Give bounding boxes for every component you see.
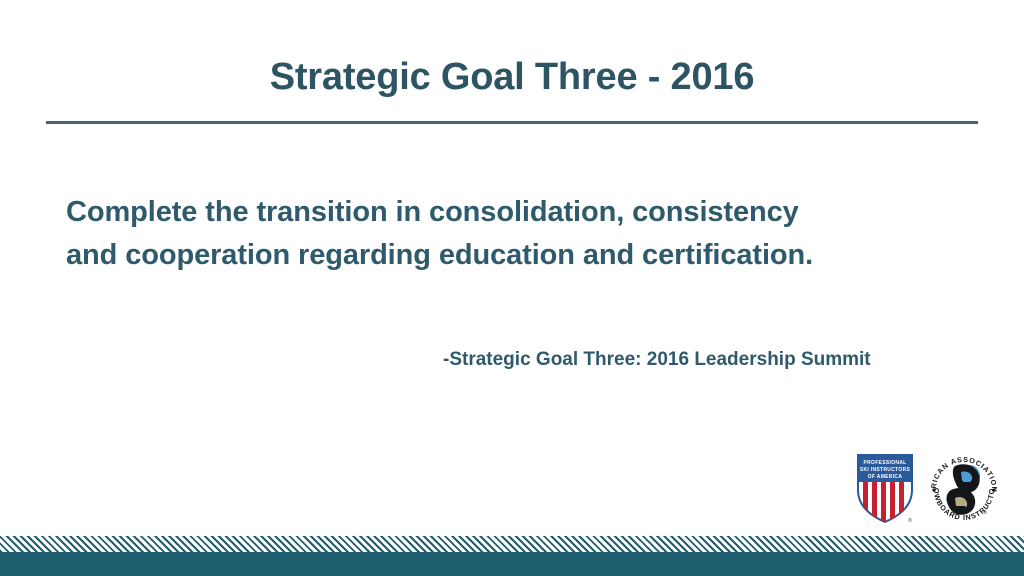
goal-statement-line-2: and cooperation regarding education and …: [66, 234, 966, 277]
psia-registered-mark: ®: [908, 517, 912, 524]
attribution-text: -Strategic Goal Three: 2016 Leadership S…: [443, 349, 943, 371]
page-title: Strategic Goal Three - 2016: [0, 54, 1024, 100]
title-divider-rule: [46, 121, 978, 124]
aasi-circle-icon: AMERICAN ASSOCIATION OF SNOWBOARD INSTRU…: [925, 446, 1003, 530]
slide-canvas: Strategic Goal Three - 2016 Complete the…: [0, 0, 1024, 576]
aasi-registered-mark: ®: [983, 509, 987, 516]
psia-logo-line-1: PROFESSIONAL: [863, 460, 906, 466]
goal-statement-line-1: Complete the transition in consolidation…: [66, 191, 966, 234]
psia-logo-line-2: SKI INSTRUCTORS: [860, 467, 911, 473]
psia-shield-icon: PROFESSIONAL SKI INSTRUCTORS OF AMERICA …: [855, 452, 919, 526]
bottom-color-bar: [0, 552, 1024, 576]
goal-statement: Complete the transition in consolidation…: [66, 191, 966, 277]
logo-strip: PROFESSIONAL SKI INSTRUCTORS OF AMERICA …: [855, 444, 1007, 532]
hatched-stripe-band: [0, 536, 1024, 552]
psia-logo-line-3: OF AMERICA: [868, 474, 903, 480]
